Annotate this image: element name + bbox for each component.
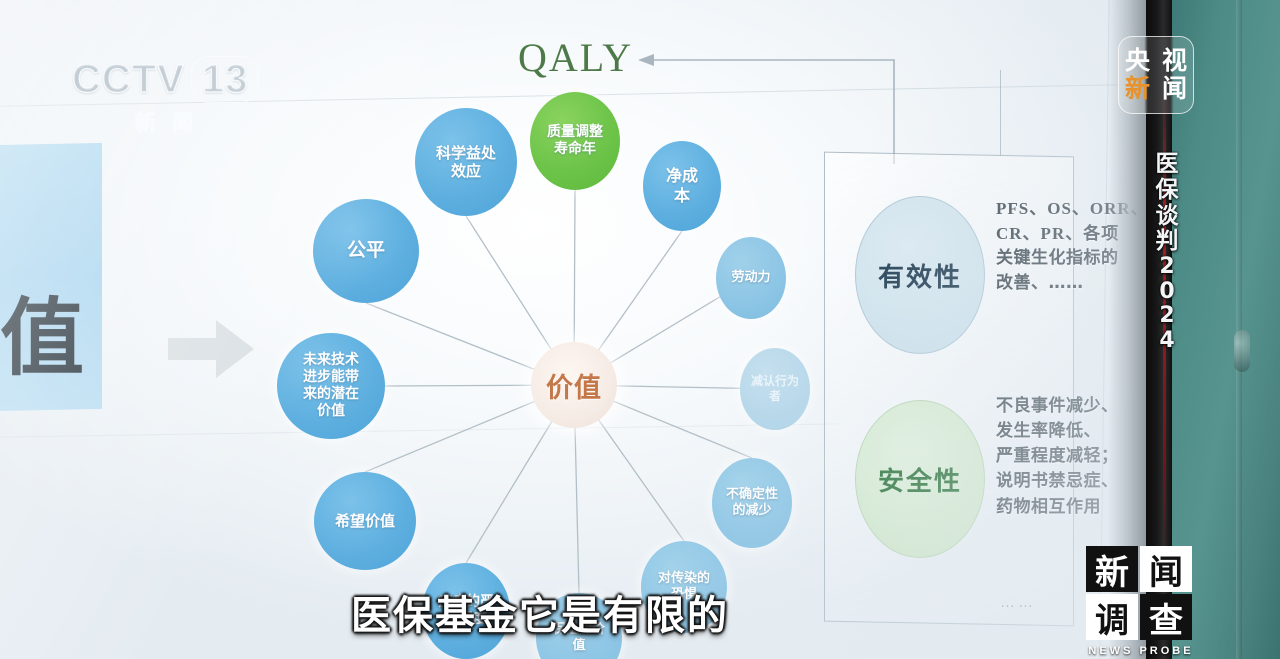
vertical-title-char: 0 bbox=[1152, 280, 1182, 305]
badge-char-1: 央 bbox=[1119, 47, 1156, 75]
badge-char-4: 闻 bbox=[1156, 75, 1193, 103]
bubble-label: 未来技术 进步能带 来的潜在 价值 bbox=[303, 352, 359, 420]
program-vertical-title: 医保谈判2024 bbox=[1152, 152, 1182, 354]
bubble-node[interactable]: 科学益处 效应 bbox=[415, 108, 517, 216]
effectiveness-label: 有效性 bbox=[878, 257, 962, 294]
rbox-connector-stem bbox=[1000, 70, 1001, 156]
bubble-node[interactable]: 希望价值 bbox=[314, 472, 416, 570]
vertical-title-char: 2 bbox=[1152, 255, 1182, 280]
door-knob bbox=[1234, 330, 1250, 372]
badge-char-2: 视 bbox=[1156, 47, 1193, 75]
bubble-node[interactable]: 公平 bbox=[313, 199, 419, 303]
bubble-label: 质量调整 寿命年 bbox=[547, 124, 603, 158]
bubble-node[interactable]: 劳动力 bbox=[716, 237, 786, 319]
news-probe-english: NEWS PROBE bbox=[1086, 645, 1196, 657]
bubble-label: 不确定性 的减少 bbox=[726, 487, 778, 519]
broadcast-frame: 值 QALY 价值 科学益处 效应质量调整 寿命年净成 本公平劳动力未来技术 bbox=[0, 0, 1280, 659]
subtitle-caption: 医保基金它是有限的 bbox=[0, 583, 1080, 641]
bubble-label: 科学益处 效应 bbox=[436, 144, 496, 181]
bubble-node[interactable]: 未来技术 进步能带 来的潜在 价值 bbox=[277, 333, 385, 439]
probe-logo-char: 新 bbox=[1086, 546, 1138, 592]
cctv-wordmark: CCTV bbox=[72, 57, 185, 101]
bubble-node[interactable]: 减认行为 者 bbox=[740, 348, 810, 430]
probe-logo-char: 查 bbox=[1140, 594, 1192, 640]
cctv-sub-label: 新闻 bbox=[72, 107, 272, 137]
vertical-title-char: 谈 bbox=[1152, 204, 1182, 230]
probe-logo-char: 调 bbox=[1086, 594, 1138, 640]
probe-logo-char: 闻 bbox=[1140, 546, 1192, 592]
cctv-channel-number: 13 bbox=[191, 56, 260, 103]
vertical-title-char: 判 bbox=[1152, 229, 1182, 255]
bubble-node[interactable]: 质量调整 寿命年 bbox=[530, 92, 620, 190]
vertical-title-char: 2 bbox=[1152, 304, 1182, 329]
vertical-title-char: 医 bbox=[1152, 152, 1182, 178]
cctv-news-badge: 央 视 新 闻 bbox=[1118, 36, 1194, 114]
bubble-node[interactable]: 净成 本 bbox=[643, 141, 721, 231]
bubble-label: 净成 本 bbox=[666, 166, 698, 205]
news-probe-logo: 新闻调查 NEWS PROBE bbox=[1086, 546, 1196, 657]
safety-oval[interactable]: 安全性 bbox=[855, 400, 985, 558]
safety-label: 安全性 bbox=[878, 461, 962, 498]
bubble-node[interactable]: 不确定性 的减少 bbox=[712, 458, 792, 548]
vertical-title-char: 4 bbox=[1152, 329, 1182, 354]
bubble-label: 劳动力 bbox=[731, 270, 770, 286]
hub-node-value[interactable]: 价值 bbox=[531, 342, 617, 428]
vertical-title-char: 保 bbox=[1152, 178, 1182, 204]
bubble-label: 希望价值 bbox=[335, 512, 395, 530]
hub-label: 价值 bbox=[546, 366, 602, 405]
effectiveness-oval[interactable]: 有效性 bbox=[855, 196, 985, 354]
bubble-label: 减认行为 者 bbox=[751, 374, 799, 403]
badge-char-3: 新 bbox=[1119, 75, 1156, 103]
bubble-label: 公平 bbox=[347, 239, 385, 262]
cctv-channel-logo: CCTV13 新闻 bbox=[72, 56, 272, 134]
